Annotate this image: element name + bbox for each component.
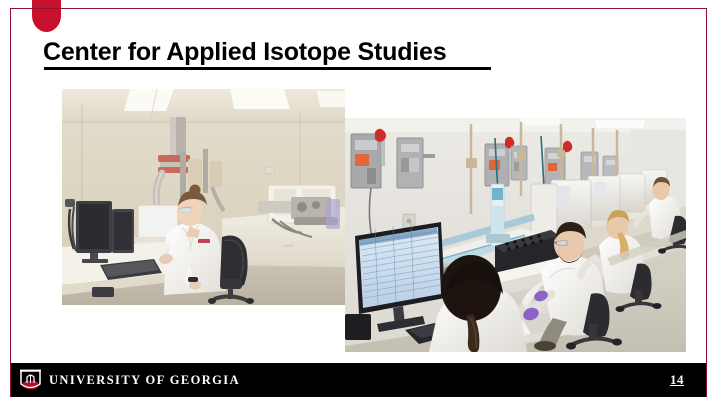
page-title: Center for Applied Isotope Studies	[43, 38, 446, 67]
svg-text:CAIS: CAIS	[284, 243, 294, 248]
page-number: 14	[670, 372, 684, 388]
uga-arch-logo	[19, 368, 42, 392]
lab-photo-left-graphic: CAIS	[62, 89, 345, 305]
slide-canvas: Center for Applied Isotope Studies	[0, 0, 720, 405]
accent-tab-shape	[32, 0, 61, 32]
isotope-lab-photo-right: Delta V	[345, 118, 686, 352]
lab-photo-right-graphic: Delta V	[345, 118, 686, 352]
footer-bar: UNIVERSITY OF GEORGIA 14	[11, 363, 706, 397]
isotope-lab-photo-left: CAIS	[62, 89, 345, 305]
page-title-underline	[44, 67, 491, 70]
footer-wordmark: UNIVERSITY OF GEORGIA	[49, 373, 240, 388]
